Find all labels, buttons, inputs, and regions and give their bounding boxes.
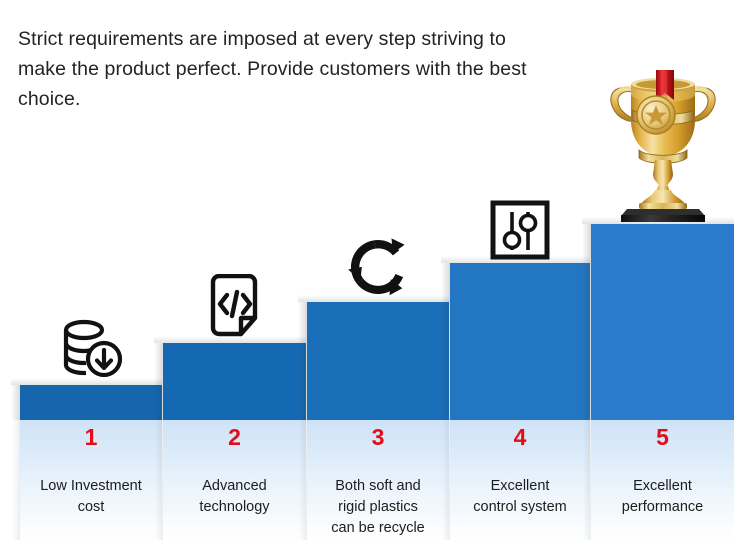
step-number-3: 3	[307, 424, 449, 450]
step-caption-1: Low Investment cost	[20, 476, 162, 518]
bar-4	[450, 263, 590, 420]
control-sliders-icon	[450, 186, 590, 261]
step-number-5: 5	[591, 424, 734, 450]
chart-column-5[interactable]: 5 Excellent performance	[591, 0, 734, 557]
bar-1	[20, 385, 162, 420]
step-number-4: 4	[450, 424, 590, 450]
chart-column-2[interactable]: 2 Advanced technology	[163, 0, 306, 557]
step-number-1: 1	[20, 424, 162, 450]
infographic-slide: Strict requirements are imposed at every…	[0, 0, 750, 557]
bar-3	[307, 302, 449, 420]
step-caption-2: Advanced technology	[163, 476, 306, 518]
step-caption-4: Excellent control system	[450, 476, 590, 518]
recycle-arrows-icon	[307, 224, 449, 300]
step-bar-chart: 1 Low Investment cost 2 Advanced tech	[0, 0, 750, 557]
database-download-icon	[20, 303, 162, 383]
chart-column-3[interactable]: 3 Both soft and rigid plastics can be re…	[307, 0, 449, 557]
chart-column-4[interactable]: 4 Excellent control system	[450, 0, 590, 557]
code-document-icon	[163, 258, 306, 340]
chart-column-1[interactable]: 1 Low Investment cost	[20, 0, 162, 557]
step-caption-5: Excellent performance	[591, 476, 734, 518]
bar-2	[163, 343, 306, 420]
bar-5	[591, 224, 734, 420]
step-caption-3: Both soft and rigid plastics can be recy…	[307, 476, 449, 539]
step-number-2: 2	[163, 424, 306, 450]
trophy-icon	[591, 52, 734, 222]
